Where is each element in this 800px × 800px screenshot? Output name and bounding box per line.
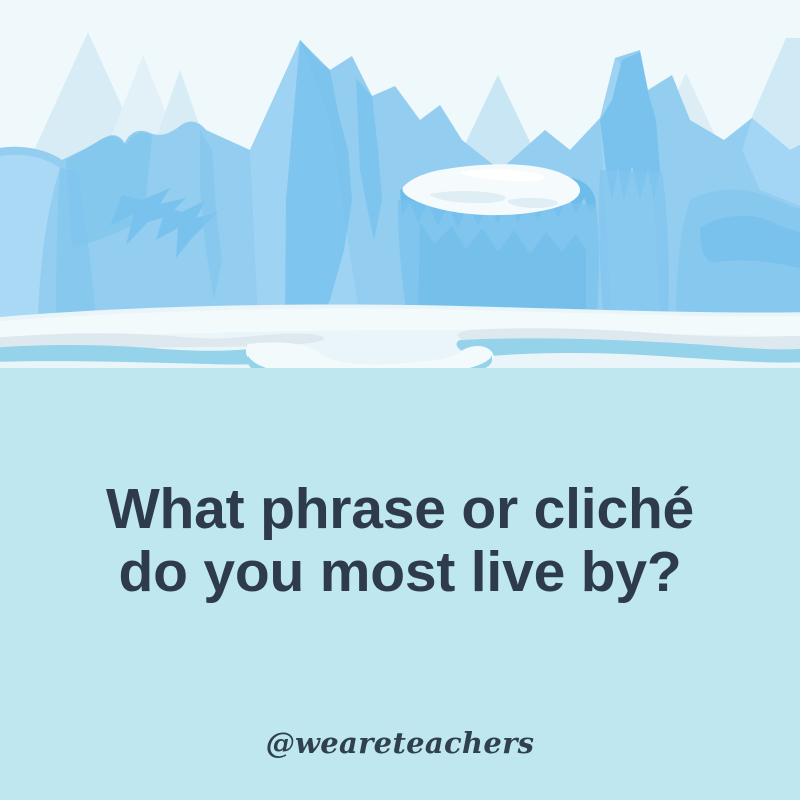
question-card: What phrase or cliché do you most live b… bbox=[0, 0, 800, 800]
shadow-right-tower-body bbox=[599, 170, 669, 320]
watermark-handle: @weareteachers bbox=[0, 726, 800, 760]
water-surface bbox=[0, 368, 800, 380]
question-line-2: do you most live by? bbox=[60, 541, 740, 604]
illustration-icy-mountain-landscape bbox=[0, 0, 800, 380]
question-text: What phrase or cliché do you most live b… bbox=[0, 478, 800, 604]
question-line-1: What phrase or cliché bbox=[60, 478, 740, 541]
